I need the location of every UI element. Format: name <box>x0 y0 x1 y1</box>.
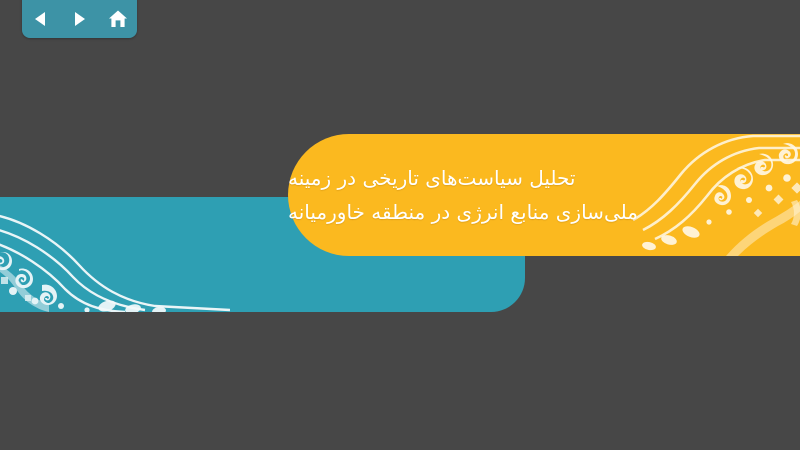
slide-canvas: تحلیل سیاست‌های تاریخی در زمینه ملی‌سازی… <box>0 0 800 450</box>
previous-button[interactable] <box>28 6 54 32</box>
triangle-right-icon <box>69 9 89 29</box>
next-button[interactable] <box>66 6 92 32</box>
home-icon <box>107 8 129 30</box>
arabesque-corner-ornament <box>633 134 800 256</box>
triangle-left-icon <box>31 9 51 29</box>
navigation-bar <box>22 0 137 38</box>
arabesque-corner-ornament <box>0 207 230 312</box>
home-button[interactable] <box>105 6 131 32</box>
title-panel <box>288 134 800 256</box>
